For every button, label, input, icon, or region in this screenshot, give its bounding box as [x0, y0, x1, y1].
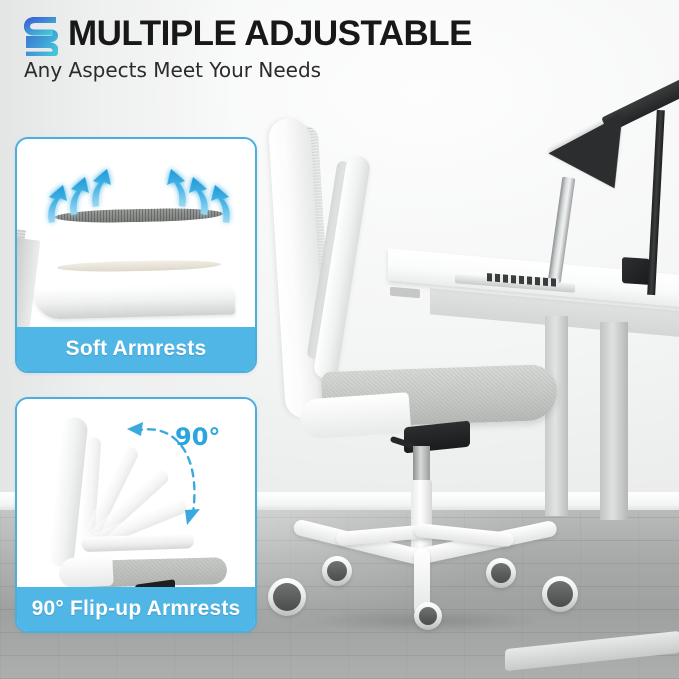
speaker-box	[622, 257, 650, 285]
armrest-base-layer	[35, 284, 236, 319]
header: MULTIPLE ADJUSTABLE Any Aspects Meet You…	[0, 0, 679, 96]
illustration-seat-lip	[58, 556, 113, 587]
desk-leg-front	[545, 316, 568, 516]
airflow-arrows-right	[151, 157, 237, 238]
chair-caster	[414, 602, 442, 630]
chair-caster	[542, 576, 578, 612]
soft-armrest-illustration	[17, 139, 255, 327]
chair-column-upper	[411, 480, 432, 555]
feature-label-soft-armrests: Soft Armrests	[17, 327, 255, 371]
chair-caster	[486, 558, 516, 588]
airflow-arrows-left	[41, 157, 127, 238]
chair-caster	[322, 556, 352, 586]
angle-label: 90°	[175, 423, 220, 451]
feature-card-flip-up-armrests[interactable]: 90° 90° Flip-up Armrests	[15, 397, 257, 633]
armrest-foam-layer	[57, 259, 221, 272]
desk-leg-rear	[600, 322, 628, 520]
s-logo-icon	[24, 16, 58, 56]
page-title: MULTIPLE ADJUSTABLE	[68, 14, 472, 54]
chair-seat-front-lip	[299, 392, 412, 440]
chair-caster	[268, 578, 306, 616]
feature-label-flip-up-armrests: 90° Flip-up Armrests	[17, 587, 255, 631]
feature-card-soft-armrests[interactable]: Soft Armrests	[15, 137, 257, 373]
infographic-canvas: MULTIPLE ADJUSTABLE Any Aspects Meet You…	[0, 0, 679, 679]
chair-frame-edge-detail	[17, 238, 40, 327]
chair-gas-cylinder	[413, 446, 430, 484]
flip-up-armrest-illustration: 90°	[17, 399, 255, 587]
page-subtitle: Any Aspects Meet Your Needs	[24, 58, 321, 82]
